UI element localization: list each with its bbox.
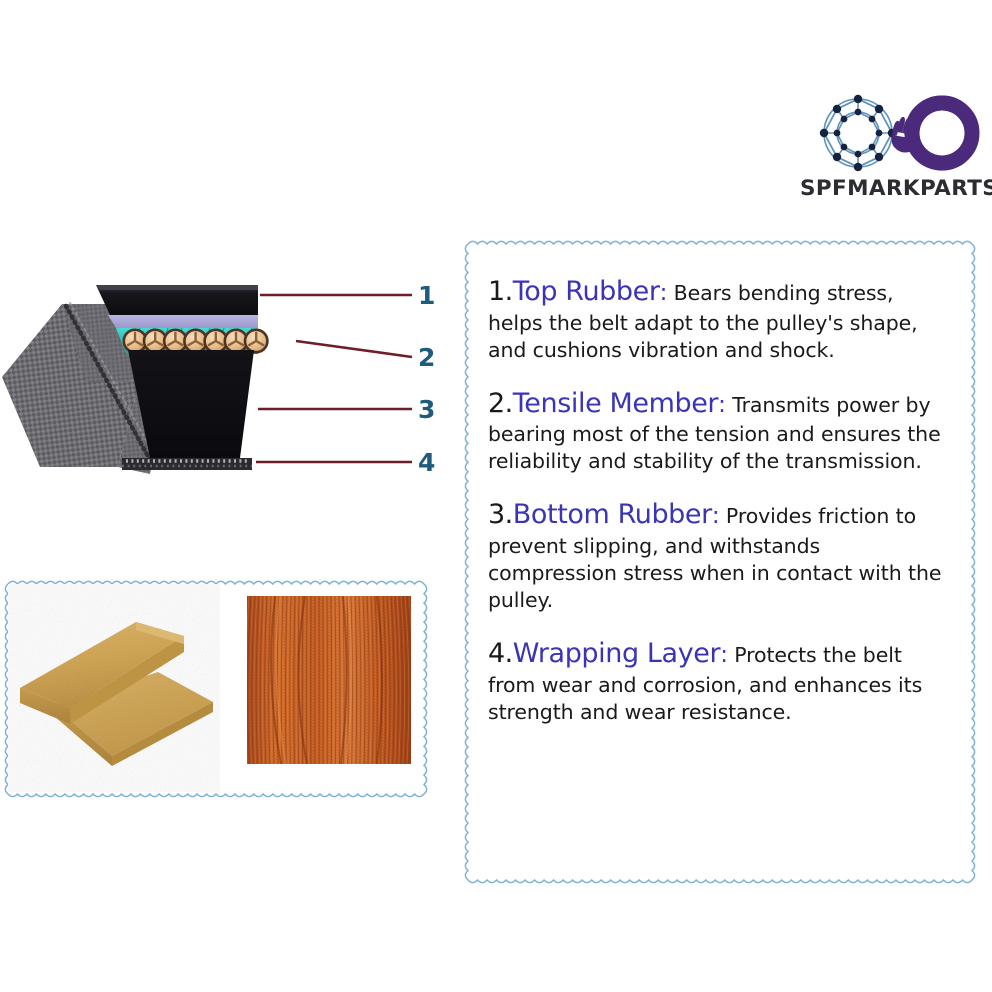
spec-title-1: Top Rubber bbox=[513, 276, 660, 307]
brand-logo: SPFMARKPARTS bbox=[800, 88, 992, 213]
rubber-compound-photo bbox=[8, 584, 220, 792]
spec-index-3: 3. bbox=[488, 499, 513, 530]
spec-item-bottom-rubber: 3.Bottom Rubber: Provides friction to pr… bbox=[488, 497, 954, 614]
spec-colon-2: : bbox=[718, 392, 726, 418]
callout-number-1: 1 bbox=[418, 283, 435, 308]
specification-panel: 1.Top Rubber: Bears bending stress, help… bbox=[462, 238, 978, 886]
material-photo-panel bbox=[2, 578, 430, 800]
leader-line-2 bbox=[296, 341, 412, 357]
diagram-callouts: 1 2 3 4 bbox=[250, 262, 460, 497]
spec-colon-4: : bbox=[720, 642, 728, 668]
spec-title-2: Tensile Member bbox=[513, 388, 718, 419]
callout-number-4: 4 bbox=[418, 450, 435, 475]
spec-index-2: 2. bbox=[488, 388, 513, 419]
spec-item-tensile-member: 2.Tensile Member: Transmits power by bea… bbox=[488, 386, 954, 476]
spec-index-4: 4. bbox=[488, 638, 513, 669]
spec-item-wrapping-layer: 4.Wrapping Layer: Protects the belt from… bbox=[488, 636, 954, 726]
tensile-cord-photo bbox=[238, 587, 420, 773]
logo-mark-icon bbox=[800, 88, 992, 178]
spec-colon-3: : bbox=[712, 503, 720, 529]
adhesion-upper-layer bbox=[108, 315, 258, 328]
callout-number-3: 3 bbox=[418, 397, 435, 422]
spec-title-3: Bottom Rubber bbox=[513, 499, 712, 530]
spec-index-1: 1. bbox=[488, 276, 513, 307]
brand-wordmark: SPFMARKPARTS bbox=[800, 176, 992, 201]
callout-number-2: 2 bbox=[418, 345, 435, 370]
bottom-wrapping-strip bbox=[122, 458, 252, 470]
spec-item-top-rubber: 1.Top Rubber: Bears bending stress, help… bbox=[488, 274, 954, 364]
bottom-rubber-layer bbox=[128, 350, 254, 458]
top-rubber-layer bbox=[96, 285, 258, 315]
spec-title-4: Wrapping Layer bbox=[513, 638, 720, 669]
